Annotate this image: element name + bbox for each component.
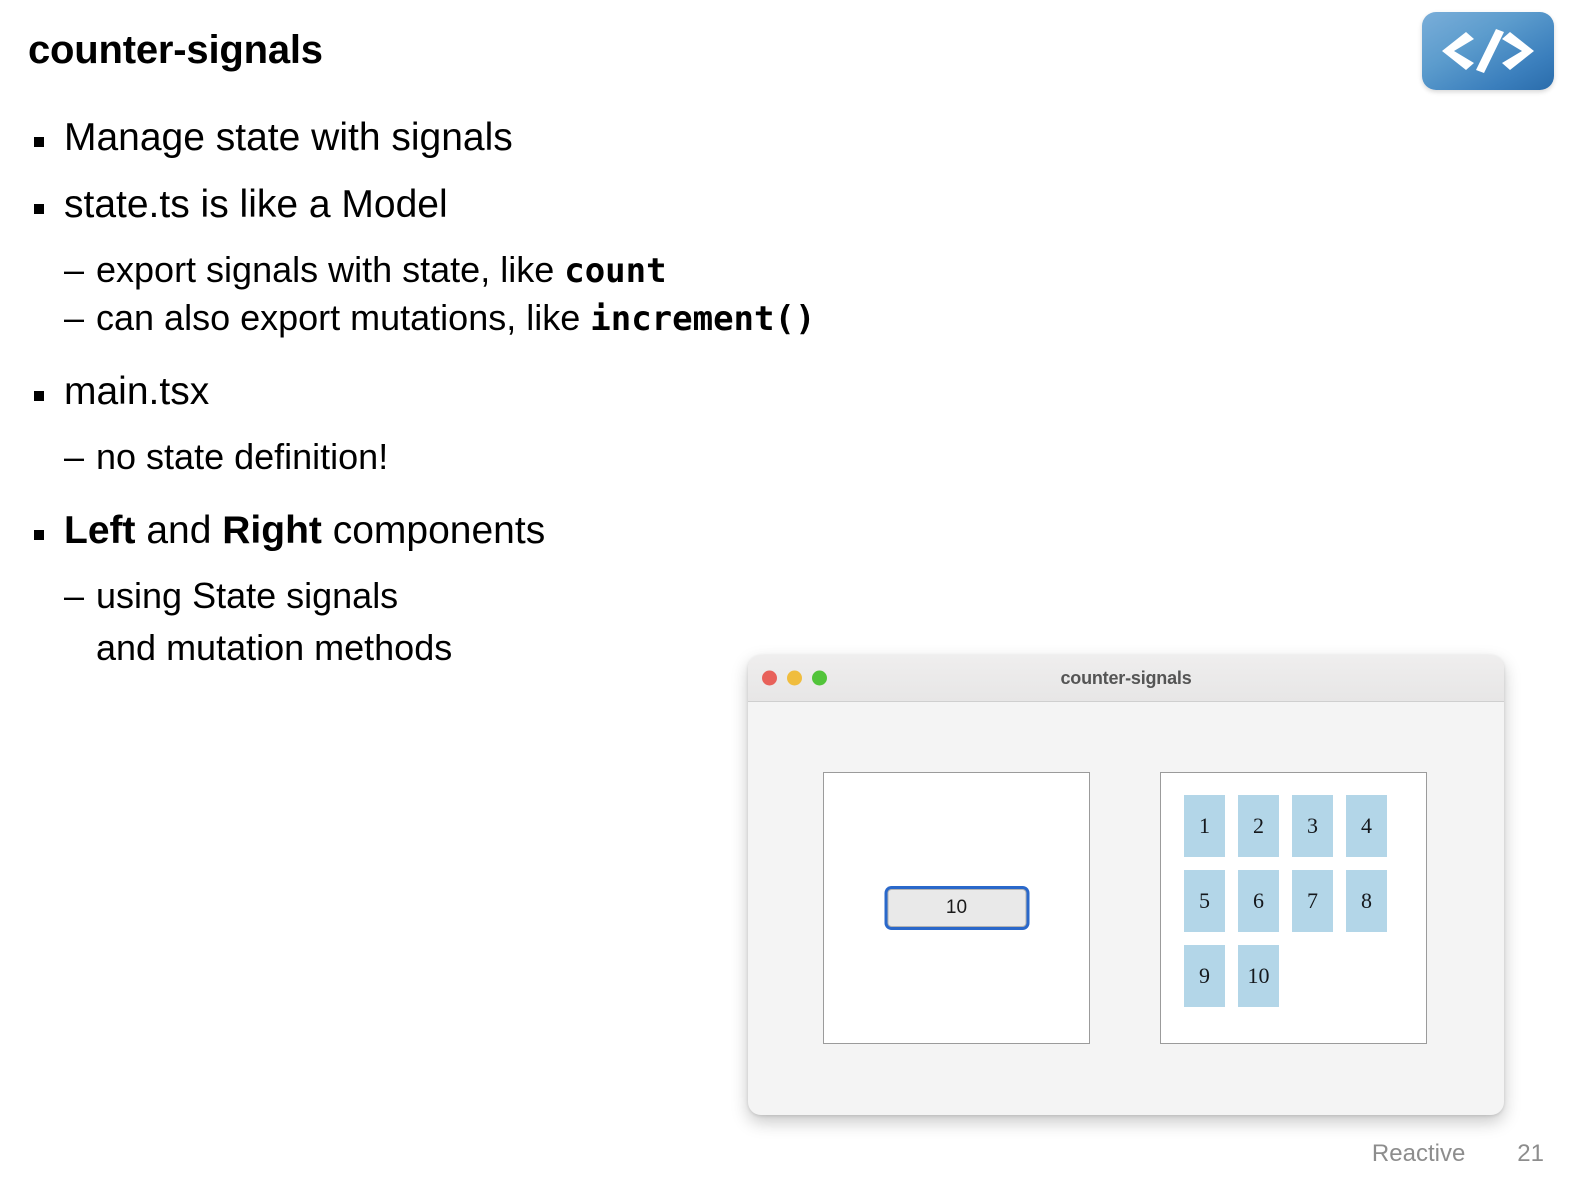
sub-bullet-text-line1: using State signals <box>96 575 398 616</box>
number-tile: 5 <box>1184 870 1225 932</box>
dash-bullet-icon: – <box>64 439 84 475</box>
sub-bullet-export-signals: – export signals with state, like count <box>28 252 1148 288</box>
number-tile: 3 <box>1292 795 1333 857</box>
bullet-list: Manage state with signals state.ts is li… <box>28 118 1148 688</box>
bullet-item-state-ts: state.ts is like a Model <box>28 185 1148 224</box>
inline-code: count <box>564 251 666 291</box>
bullet-text: Manage state with signals <box>64 116 513 159</box>
square-bullet-icon <box>34 204 44 214</box>
window-content: 10 1 2 3 4 5 6 7 8 9 10 <box>748 702 1504 1115</box>
bullet-item-main-tsx: main.tsx <box>28 372 1148 411</box>
bullet-item-manage-state: Manage state with signals <box>28 118 1148 157</box>
dash-bullet-icon: – <box>64 578 84 614</box>
slide-footer: Reactive 21 <box>1372 1140 1544 1168</box>
number-tile: 8 <box>1346 870 1387 932</box>
footer-section-label: Reactive <box>1372 1140 1465 1168</box>
dash-bullet-icon: – <box>64 252 84 288</box>
left-component-panel: 10 <box>823 772 1090 1044</box>
bullet-item-left-right-components: Left and Right components <box>28 511 1148 550</box>
number-tile: 4 <box>1346 795 1387 857</box>
close-window-icon[interactable] <box>762 671 777 686</box>
sub-bullet-export-mutations: – can also export mutations, like increm… <box>28 300 1148 336</box>
window-traffic-lights <box>762 671 827 686</box>
sub-bullet-text: can also export mutations, like <box>96 297 590 338</box>
sub-bullet-text: no state definition! <box>96 436 388 477</box>
square-bullet-icon <box>34 137 44 147</box>
bullet-text-mid: and <box>136 509 223 552</box>
number-tile: 9 <box>1184 945 1225 1007</box>
bullet-text-tail: components <box>322 509 545 552</box>
bullet-text: state.ts is like a Model <box>64 183 448 226</box>
right-component-panel: 1 2 3 4 5 6 7 8 9 10 <box>1160 772 1427 1044</box>
page-title: counter-signals <box>28 28 323 73</box>
code-brackets-icon <box>1422 12 1554 90</box>
number-tile: 2 <box>1238 795 1279 857</box>
bullet-text: main.tsx <box>64 370 209 413</box>
bullet-bold-right: Right <box>222 509 322 552</box>
inline-code: increment() <box>590 299 815 339</box>
sub-bullet-no-state-definition: – no state definition! <box>28 439 1148 475</box>
minimize-window-icon[interactable] <box>787 671 802 686</box>
square-bullet-icon <box>34 530 44 540</box>
number-tile: 10 <box>1238 945 1279 1007</box>
sub-bullet-using-state-signals: – using State signals and mutation metho… <box>28 578 1148 666</box>
dash-bullet-icon: – <box>64 300 84 336</box>
bullet-bold-left: Left <box>64 509 136 552</box>
number-tile-grid: 1 2 3 4 5 6 7 8 9 10 <box>1184 795 1408 1007</box>
sub-bullet-text: export signals with state, like <box>96 249 564 290</box>
slide-page-number: 21 <box>1517 1140 1544 1168</box>
number-tile: 1 <box>1184 795 1225 857</box>
square-bullet-icon <box>34 391 44 401</box>
window-titlebar[interactable]: counter-signals <box>748 655 1504 702</box>
number-tile: 7 <box>1292 870 1333 932</box>
number-tile: 6 <box>1238 870 1279 932</box>
zoom-window-icon[interactable] <box>812 671 827 686</box>
app-window: counter-signals 10 1 2 3 4 5 6 7 8 9 10 <box>748 655 1504 1115</box>
counter-increment-button[interactable]: 10 <box>887 889 1026 927</box>
window-title: counter-signals <box>748 668 1504 689</box>
